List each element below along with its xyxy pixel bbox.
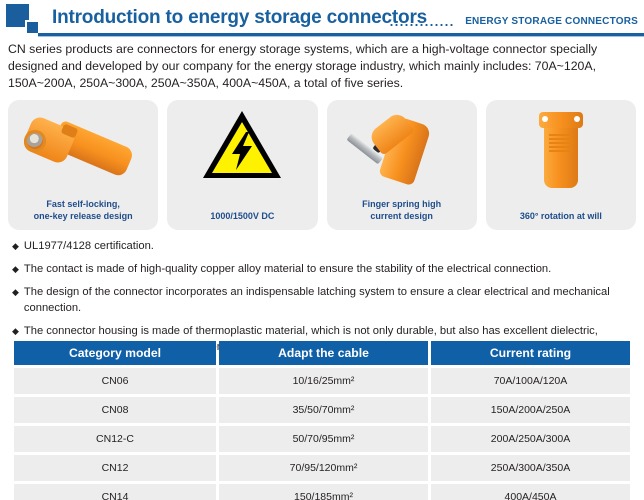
finger-spring-connector-icon — [327, 104, 477, 192]
cell-adapt-cable: 70/95/120mm² — [219, 455, 428, 481]
feature-caption-line2: current design — [331, 210, 473, 222]
high-voltage-warning-icon — [167, 108, 317, 186]
cell-current-rating: 70A/100A/120A — [431, 368, 630, 394]
page-root: Introduction to energy storage connector… — [0, 0, 644, 500]
bullet-text: UL1977/4128 certification. — [24, 238, 634, 254]
feature-caption: 360° rotation at will — [490, 210, 632, 222]
diamond-bullet-icon: ◆ — [12, 238, 19, 254]
feature-caption: 1000/1500V DC — [171, 210, 313, 222]
cell-adapt-cable: 50/70/95mm² — [219, 426, 428, 452]
bullet-text: The design of the connector incorporates… — [24, 284, 634, 316]
bullet-item: ◆ The design of the connector incorporat… — [12, 284, 634, 316]
header-divider-light — [38, 36, 644, 37]
feature-card-self-locking: Fast self-locking, one-key release desig… — [8, 100, 158, 230]
table-row: CN12 70/95/120mm² 250A/300A/350A — [14, 455, 630, 481]
cell-adapt-cable: 10/16/25mm² — [219, 368, 428, 394]
feature-caption-line1: 1000/1500V DC — [171, 210, 313, 222]
feature-caption-line1: Finger spring high — [331, 198, 473, 210]
specification-table: Category model Adapt the cable Current r… — [14, 341, 630, 500]
bullet-item: ◆ The contact is made of high-quality co… — [12, 261, 634, 277]
page-title: Introduction to energy storage connector… — [52, 7, 427, 29]
cell-category-model: CN08 — [14, 397, 216, 423]
table-header-adapt-cable: Adapt the cable — [219, 341, 428, 365]
intro-paragraph: CN series products are connectors for en… — [8, 41, 636, 92]
cell-current-rating: 200A/250A/300A — [431, 426, 630, 452]
diamond-bullet-icon: ◆ — [12, 284, 19, 316]
table-row: CN12-C 50/70/95mm² 200A/250A/300A — [14, 426, 630, 452]
cell-adapt-cable: 150/185mm² — [219, 484, 428, 500]
bullet-text: The contact is made of high-quality copp… — [24, 261, 634, 277]
hazard-triangle-svg — [200, 108, 284, 182]
rotating-connector-icon — [486, 104, 636, 192]
diamond-bullet-icon: ◆ — [12, 261, 19, 277]
header-kicker-label: ENERGY STORAGE CONNECTORS — [465, 16, 638, 27]
feature-card-list: Fast self-locking, one-key release desig… — [8, 100, 636, 230]
cell-adapt-cable: 35/50/70mm² — [219, 397, 428, 423]
feature-caption-line1: 360° rotation at will — [490, 210, 632, 222]
cell-category-model: CN14 — [14, 484, 216, 500]
table-header-current-rating: Current rating — [431, 341, 630, 365]
header-kicker-group: ENERGY STORAGE CONNECTORS — [389, 16, 638, 27]
logo-mark — [6, 4, 50, 34]
table-header-row: Category model Adapt the cable Current r… — [14, 341, 630, 365]
cell-category-model: CN12 — [14, 455, 216, 481]
bullet-item: ◆ UL1977/4128 certification. — [12, 238, 634, 254]
feature-caption-line2: one-key release design — [12, 210, 154, 222]
feature-caption-line1: Fast self-locking, — [12, 198, 154, 210]
feature-card-finger-spring: Finger spring high current design — [327, 100, 477, 230]
table-row: CN14 150/185mm² 400A/450A — [14, 484, 630, 500]
page-header: Introduction to energy storage connector… — [0, 0, 644, 38]
feature-card-voltage: 1000/1500V DC — [167, 100, 317, 230]
cell-current-rating: 250A/300A/350A — [431, 455, 630, 481]
table-header-category-model: Category model — [14, 341, 216, 365]
angled-connector-icon — [8, 104, 158, 192]
cell-current-rating: 150A/200A/250A — [431, 397, 630, 423]
feature-caption: Finger spring high current design — [331, 198, 473, 222]
table-row: CN08 35/50/70mm² 150A/200A/250A — [14, 397, 630, 423]
cell-category-model: CN06 — [14, 368, 216, 394]
dotted-line-icon — [389, 18, 455, 26]
feature-card-rotation: 360° rotation at will — [486, 100, 636, 230]
feature-caption: Fast self-locking, one-key release desig… — [12, 198, 154, 222]
cell-category-model: CN12-C — [14, 426, 216, 452]
table-row: CN06 10/16/25mm² 70A/100A/120A — [14, 368, 630, 394]
cell-current-rating: 400A/450A — [431, 484, 630, 500]
